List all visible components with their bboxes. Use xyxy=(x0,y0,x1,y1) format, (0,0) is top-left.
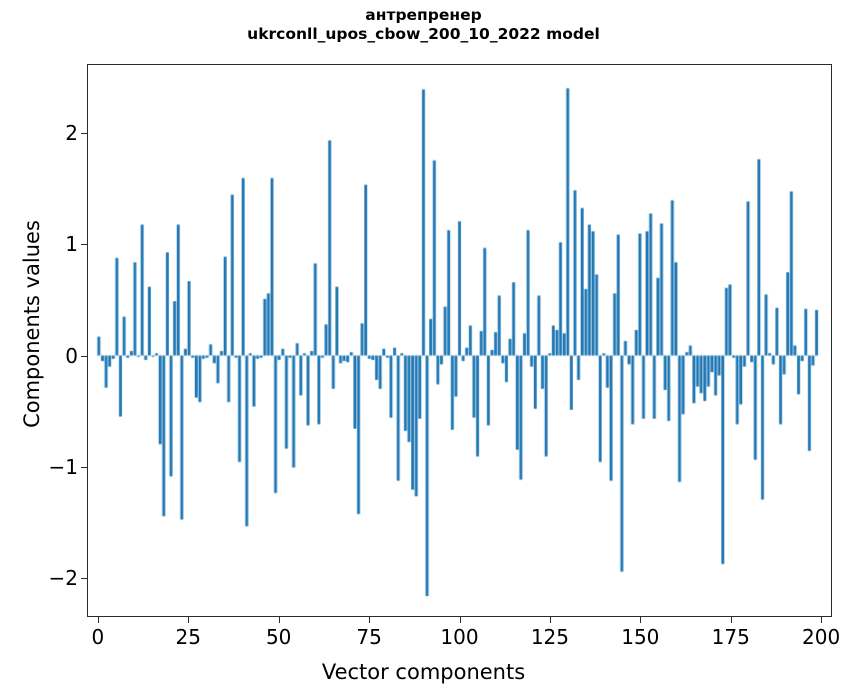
figure: антрепренер ukrconll_upos_cbow_200_10_20… xyxy=(0,0,847,696)
x-tick-mark-7 xyxy=(731,617,732,623)
x-axis-label: Vector components xyxy=(0,660,847,684)
x-tick-label-1: 25 xyxy=(153,625,223,649)
x-tick-mark-4 xyxy=(460,617,461,623)
x-tick-label-3: 75 xyxy=(334,625,404,649)
y-tick-label-4: 2 xyxy=(18,121,78,145)
x-tick-label-8: 200 xyxy=(786,625,847,649)
chart-title-line-1: антрепренер xyxy=(0,6,847,25)
chart-title: антрепренер ukrconll_upos_cbow_200_10_20… xyxy=(0,6,847,44)
x-tick-mark-1 xyxy=(188,617,189,623)
x-tick-mark-5 xyxy=(550,617,551,623)
x-tick-label-2: 50 xyxy=(244,625,314,649)
x-tick-label-4: 100 xyxy=(425,625,495,649)
x-tick-mark-2 xyxy=(279,617,280,623)
chart-title-line-2: ukrconll_upos_cbow_200_10_2022 model xyxy=(0,25,847,44)
y-tick-label-3: 1 xyxy=(18,232,78,256)
x-tick-mark-8 xyxy=(821,617,822,623)
y-tick-label-0: −2 xyxy=(18,566,78,590)
y-tick-label-2: 0 xyxy=(18,344,78,368)
bar-series-canvas xyxy=(88,65,831,616)
x-tick-mark-6 xyxy=(640,617,641,623)
x-tick-label-6: 150 xyxy=(605,625,675,649)
plot-area xyxy=(87,64,832,617)
x-tick-mark-3 xyxy=(369,617,370,623)
y-axis-tick-labels: −2−1012 xyxy=(8,0,78,696)
x-tick-label-7: 175 xyxy=(696,625,766,649)
x-tick-mark-0 xyxy=(98,617,99,623)
x-tick-label-5: 125 xyxy=(515,625,585,649)
y-tick-label-1: −1 xyxy=(18,455,78,479)
x-tick-label-0: 0 xyxy=(63,625,133,649)
